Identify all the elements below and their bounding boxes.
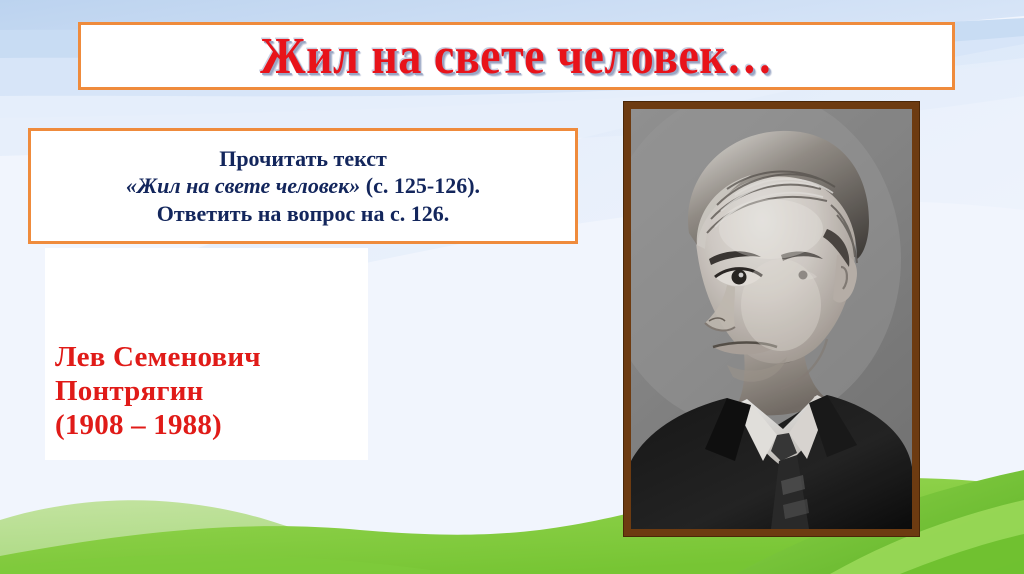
portrait-photo — [631, 109, 912, 529]
person-lifespan: (1908 – 1988) — [55, 408, 385, 442]
instruction-line-3: Ответить на вопрос на с. 126. — [157, 200, 450, 228]
title-box: Жил на свете человек… — [78, 22, 955, 90]
instruction-line-1: Прочитать текст — [219, 145, 387, 173]
person-name-line-1: Лев Семенович — [55, 340, 385, 374]
slide: Жил на свете человек… Прочитать текст «Ж… — [0, 0, 1024, 574]
instruction-box: Прочитать текст «Жил на свете человек» (… — [28, 128, 578, 244]
instruction-book-title: «Жил на свете человек» — [126, 173, 360, 198]
portrait-photo-frame — [624, 102, 919, 536]
portrait-illustration — [631, 109, 912, 529]
page-title: Жил на свете человек… — [260, 30, 773, 82]
instruction-line-2: «Жил на свете человек» (с. 125-126). — [126, 172, 480, 200]
person-name-line-2: Понтрягин — [55, 374, 385, 408]
instruction-pages: (с. 125-126). — [360, 173, 480, 198]
person-name-block: Лев Семенович Понтрягин (1908 – 1988) — [55, 340, 385, 443]
